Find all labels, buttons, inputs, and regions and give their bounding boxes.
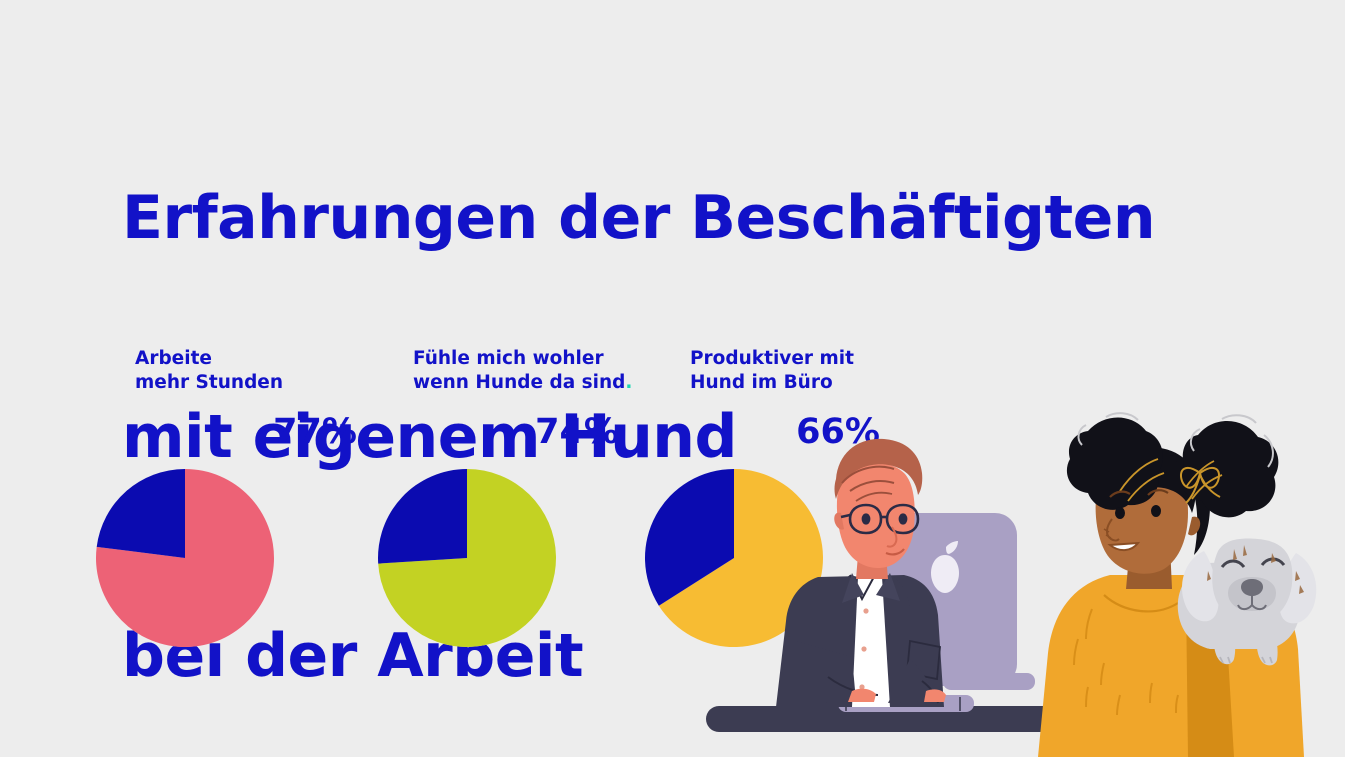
stat-label-line-1: Fühle mich wohler	[413, 348, 604, 369]
stat-label: Produktiver mitHund im Büro	[690, 347, 950, 395]
pie-chart-arbeite-mehr-stunden	[95, 468, 275, 648]
pie-slice-remainder	[97, 469, 185, 558]
stat-percentage: 74%	[477, 412, 677, 452]
office-scene-illustration	[700, 395, 1345, 757]
stat-label-line-2: wenn Hunde da sind	[413, 372, 625, 393]
infographic-canvas: Erfahrungen der Beschäftigten mit eigene…	[0, 0, 1345, 757]
stat-block-arbeite-mehr-stunden: Arbeitemehr Stunden 77%	[115, 340, 395, 670]
stat-label-line-2: mehr Stunden	[135, 372, 283, 393]
stat-block-fuehle-mich-wohler: Fühle mich wohlerwenn Hunde da sind. 74%	[393, 340, 673, 670]
title-line-1: Erfahrungen der Beschäftigten	[122, 182, 1212, 255]
teal-period-accent: .	[625, 372, 632, 393]
stat-label: Fühle mich wohlerwenn Hunde da sind.	[413, 347, 673, 395]
stat-label: Arbeitemehr Stunden	[135, 347, 395, 395]
woman-with-dog	[1038, 413, 1316, 757]
pie-slice-remainder	[378, 469, 467, 564]
stat-label-line-1: Arbeite	[135, 348, 212, 369]
stat-label-line-2: Hund im Büro	[690, 372, 833, 393]
pie-chart-fuehle-mich-wohler	[377, 468, 557, 648]
stat-label-line-1: Produktiver mit	[690, 348, 854, 369]
stat-percentage: 77%	[215, 412, 415, 452]
